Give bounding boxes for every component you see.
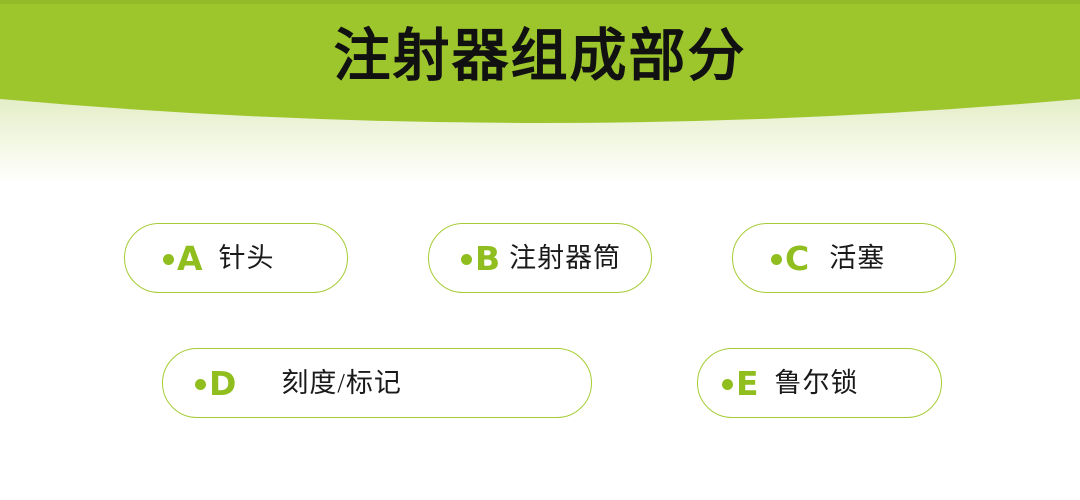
legend-label-d: 刻度/标记 xyxy=(281,368,402,398)
legend-item-c[interactable]: C 活塞 xyxy=(732,223,956,293)
bullet-dot-icon xyxy=(195,379,206,390)
bullet-dot-icon xyxy=(771,254,782,265)
legend-item-e[interactable]: E 鲁尔锁 xyxy=(697,348,942,418)
bullet-dot-icon xyxy=(722,379,733,390)
legend-item-b[interactable]: B 注射器筒 xyxy=(428,223,652,293)
slide-canvas: 注射器组成部分 A 针头 B 注射器筒 C 活塞 D 刻度/标记 E 鲁尔锁 xyxy=(0,0,1080,500)
legend-label-c: 活塞 xyxy=(829,243,885,273)
legend-label-e: 鲁尔锁 xyxy=(775,368,859,398)
legend-item-a[interactable]: A 针头 xyxy=(124,223,348,293)
legend-label-b: 注射器筒 xyxy=(509,243,621,273)
legend-item-d[interactable]: D 刻度/标记 xyxy=(162,348,592,418)
legend-letter-a: A xyxy=(177,242,203,275)
legend-letter-e: E xyxy=(736,367,759,400)
header-banner: 注射器组成部分 xyxy=(0,0,1080,200)
legend-letter-c: C xyxy=(785,242,809,275)
legend-letter-b: B xyxy=(475,242,500,275)
page-title: 注射器组成部分 xyxy=(0,22,1080,92)
legend-label-a: 针头 xyxy=(219,243,275,273)
legend-letter-d: D xyxy=(209,367,236,400)
bullet-dot-icon xyxy=(461,254,472,265)
bullet-dot-icon xyxy=(163,254,174,265)
header-top-rule xyxy=(0,0,1080,4)
